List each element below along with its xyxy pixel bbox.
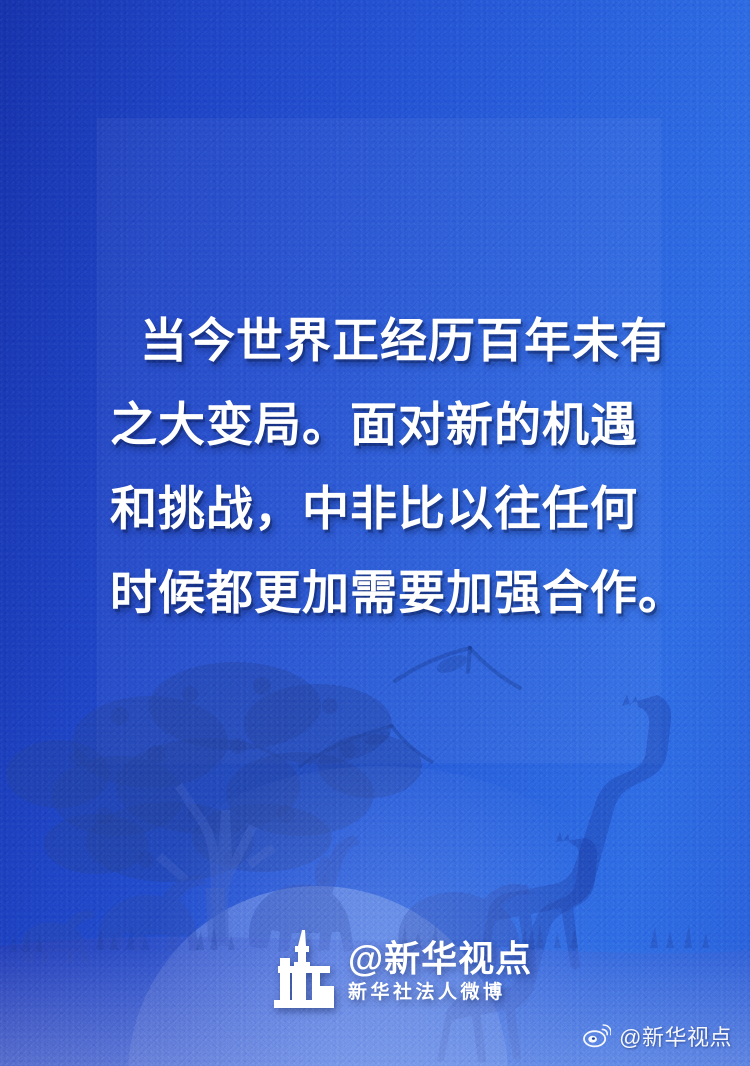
quote-line-2: 之大变局。面对新的机遇	[110, 384, 670, 468]
logo-text-group: @新华视点 新华社法人微博	[348, 940, 532, 1008]
watermark-text: @新华视点	[619, 1020, 732, 1052]
xinhua-pagoda-mark-icon	[272, 930, 336, 1008]
poster-canvas: 当今世界正经历百年未有 之大变局。面对新的机遇 和挑战，中非比以往任何 时候都更…	[0, 0, 750, 1066]
xinhua-logo-lockup[interactable]: @新华视点 新华社法人微博	[272, 930, 532, 1008]
quote-line-1: 当今世界正经历百年未有	[110, 300, 670, 384]
weibo-watermark[interactable]: @新华视点	[581, 1020, 732, 1052]
logo-subtitle: 新华社法人微博	[348, 980, 532, 1006]
weibo-icon	[581, 1023, 611, 1049]
quote-block: 当今世界正经历百年未有 之大变局。面对新的机遇 和挑战，中非比以往任何 时候都更…	[110, 300, 670, 636]
quote-line-4: 时候都更加需要加强合作。	[110, 552, 670, 636]
quote-line-3: 和挑战，中非比以往任何	[110, 468, 670, 552]
logo-title: @新华视点	[348, 940, 532, 978]
